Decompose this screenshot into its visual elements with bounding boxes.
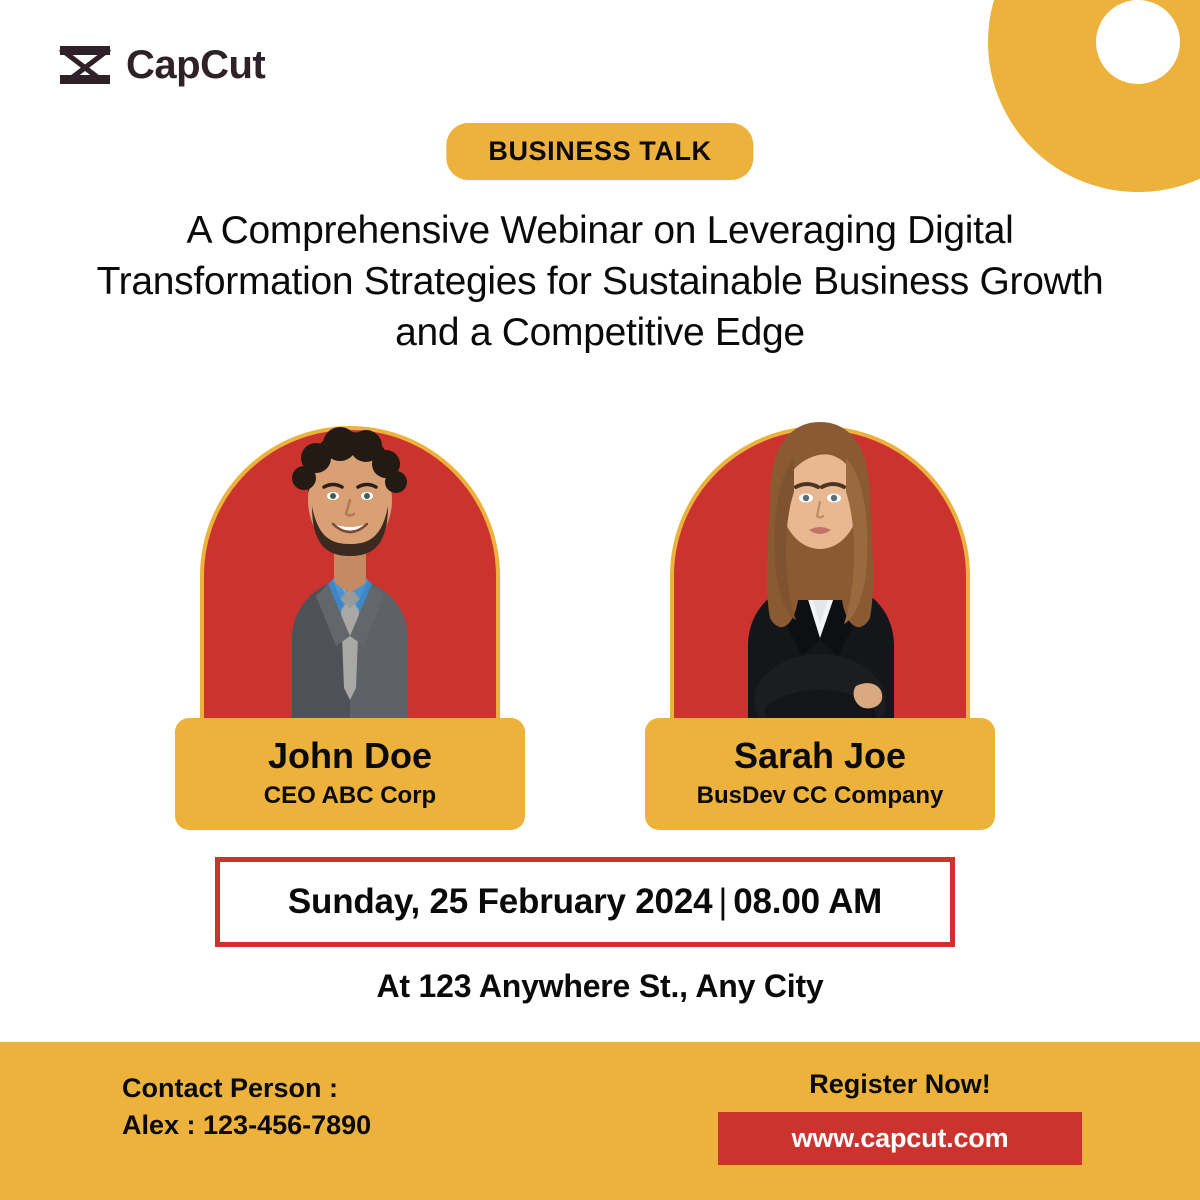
datetime-separator: | [712,882,733,921]
speaker-photo [200,388,500,766]
speaker-nameplate: Sarah Joe BusDev CC Company [645,718,995,830]
man-in-grey-suit-portrait [200,388,500,766]
register-block: Register Now! www.capcut.com [718,1068,1082,1165]
speaker-photo [670,388,970,766]
page-title: A Comprehensive Webinar on Leveraging Di… [60,205,1140,358]
event-datetime-box: Sunday, 25 February 2024|08.00 AM [215,857,955,947]
speaker-name: John Doe [185,736,515,776]
event-date: Sunday, 25 February 2024 [288,882,712,921]
speakers-section: John Doe CEO ABC Corp [0,388,1200,838]
event-address: At 123 Anywhere St., Any City [0,968,1200,1005]
contact-heading: Contact Person : [122,1070,371,1107]
speaker-role: BusDev CC Company [655,782,985,810]
speaker-card: Sarah Joe BusDev CC Company [645,388,995,838]
speaker-name: Sarah Joe [655,736,985,776]
speaker-nameplate: John Doe CEO ABC Corp [175,718,525,830]
website-url-button[interactable]: www.capcut.com [718,1112,1082,1165]
speaker-role: CEO ABC Corp [185,782,515,810]
capcut-logo-text: CapCut [126,45,265,85]
event-datetime-text: Sunday, 25 February 2024|08.00 AM [288,882,882,922]
business-talk-badge: BUSINESS TALK [446,123,753,180]
contact-block: Contact Person : Alex : 123-456-7890 [122,1070,371,1145]
capcut-logo: CapCut [58,44,265,86]
quarter-ring-arc-icon [988,0,1200,192]
contact-detail: Alex : 123-456-7890 [122,1107,371,1144]
speaker-card: John Doe CEO ABC Corp [175,388,525,838]
register-label: Register Now! [718,1068,1082,1100]
capcut-hourglass-icon [58,44,112,86]
poster-canvas: CapCut BUSINESS TALK A Comprehensive Web… [0,0,1200,1200]
footer-band: Contact Person : Alex : 123-456-7890 Reg… [0,1042,1200,1200]
woman-in-black-blazer-portrait [670,388,970,766]
event-time: 08.00 AM [733,882,882,921]
